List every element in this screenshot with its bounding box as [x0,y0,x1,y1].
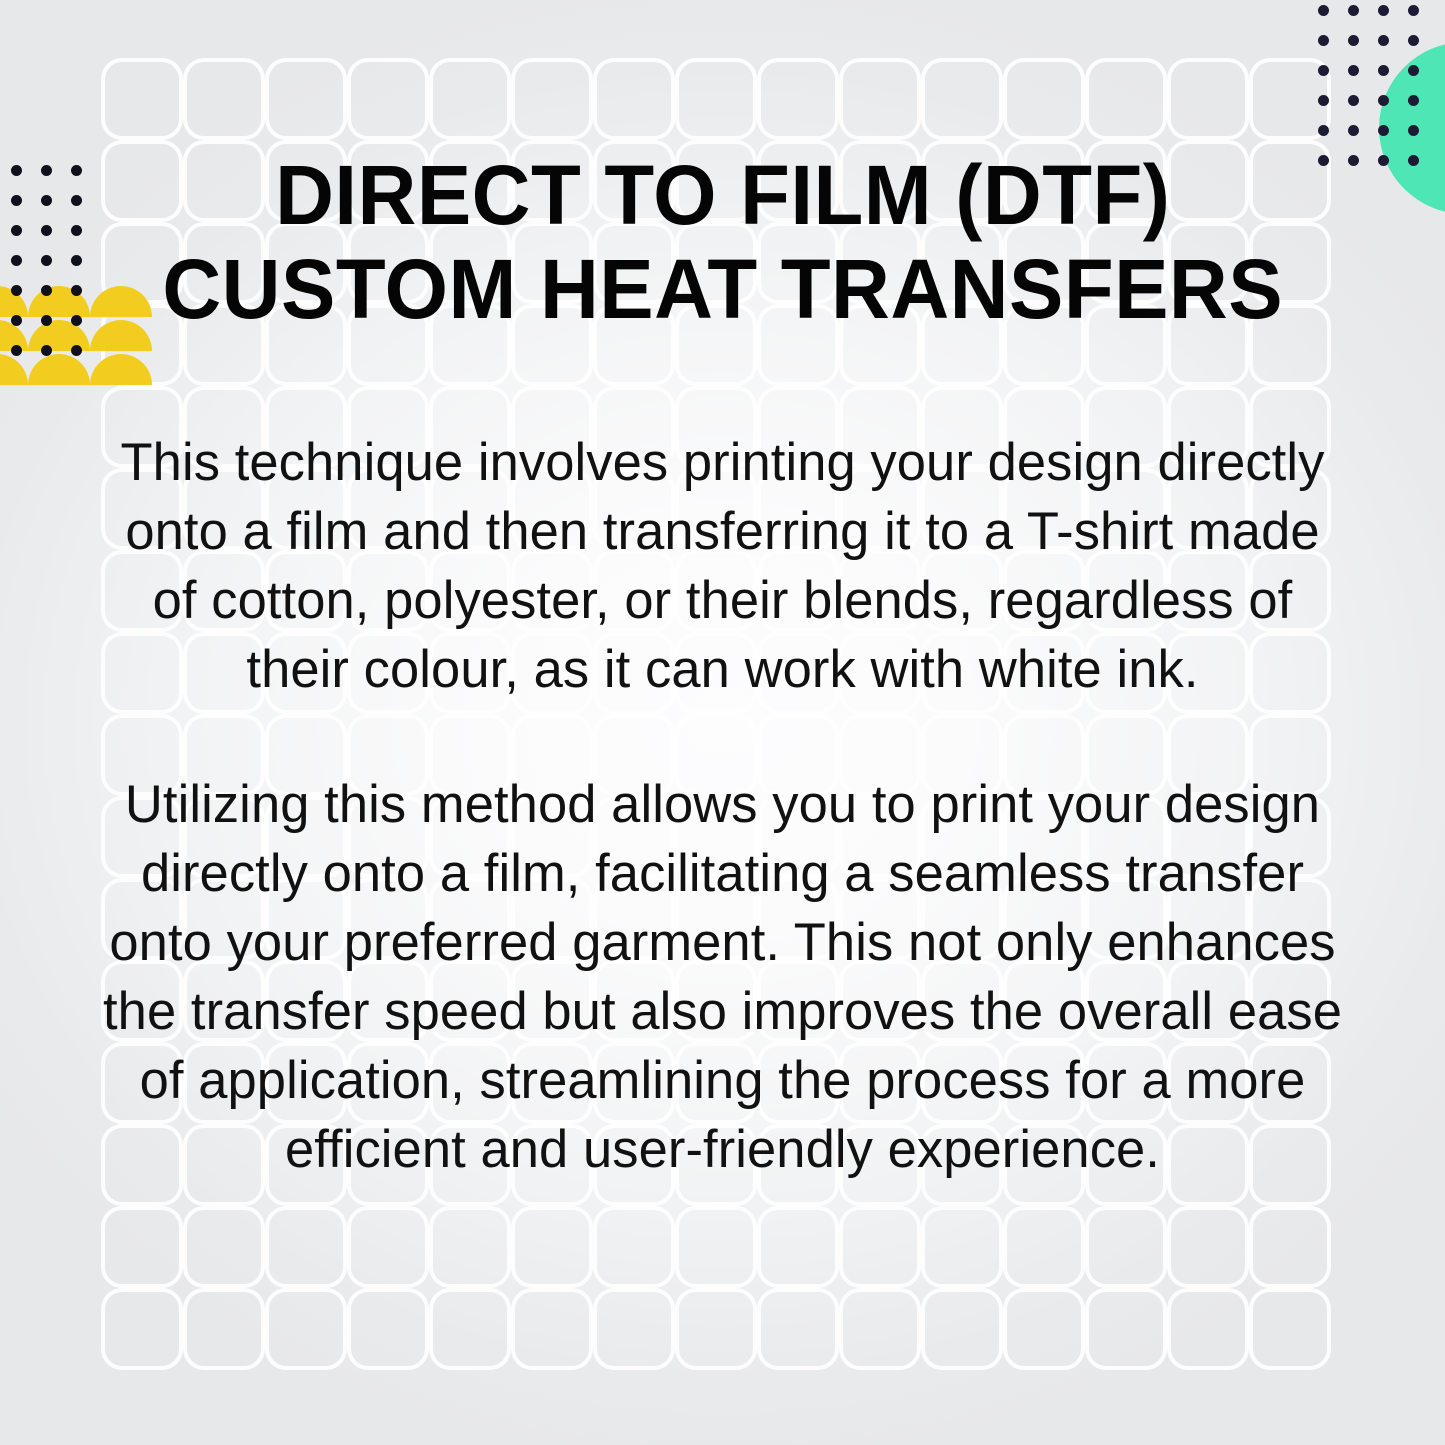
body-paragraph-1: This technique involves printing your de… [101,428,1343,704]
page-title: DIRECT TO FILM (DTF) CUSTOM HEAT TRANSFE… [94,148,1351,336]
page-title-line-1: DIRECT TO FILM (DTF) [162,148,1283,242]
body-text-block: This technique involves printing your de… [95,336,1350,1184]
body-paragraph-2: Utilizing this method allows you to prin… [101,770,1343,1184]
page-title-line-2: CUSTOM HEAT TRANSFERS [162,242,1283,336]
poster-content: DIRECT TO FILM (DTF) CUSTOM HEAT TRANSFE… [0,0,1445,1445]
poster-canvas: DIRECT TO FILM (DTF) CUSTOM HEAT TRANSFE… [0,0,1445,1445]
